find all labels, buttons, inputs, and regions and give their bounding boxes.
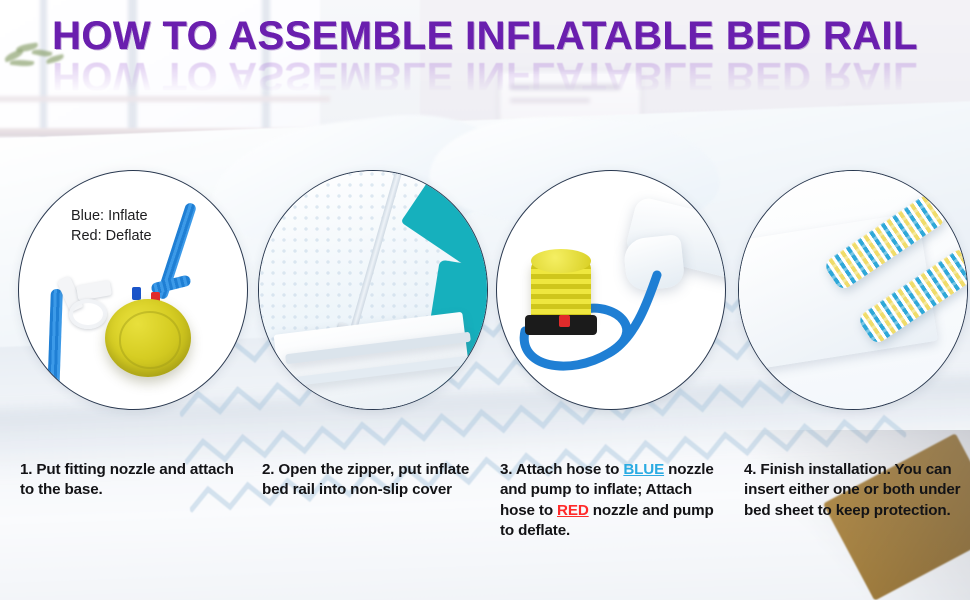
pump-base-disc — [105, 299, 191, 377]
step-3-illustration — [497, 171, 725, 409]
step-2-caption: 2. Open the zipper, put inflate bed rail… — [262, 460, 484, 501]
infographic-canvas: HOW TO ASSEMBLE INFLATABLE BED RAIL HOW … — [0, 0, 970, 600]
blue-hose-lower — [47, 289, 63, 397]
blue-keyword: BLUE — [623, 461, 664, 478]
fitting-nozzle — [76, 280, 112, 301]
step-3-circle — [496, 170, 726, 410]
step-3-caption-part: 3. Attach hose to — [500, 461, 623, 478]
window-mullion — [0, 96, 330, 102]
title-block: HOW TO ASSEMBLE INFLATABLE BED RAIL HOW … — [0, 16, 970, 96]
fitting-nozzle-ring — [69, 299, 107, 329]
blue-valve-marker — [132, 287, 141, 300]
red-nozzle-marker — [559, 315, 570, 327]
step-4-caption: 4. Finish installation. You can insert e… — [744, 460, 962, 521]
page-title: HOW TO ASSEMBLE INFLATABLE BED RAIL — [0, 16, 970, 57]
foot-pump-top — [531, 249, 591, 273]
legend-text: Blue: Inflate Red: Deflate — [71, 207, 152, 246]
step-1-illustration: Blue: Inflate Red: Deflate — [19, 171, 247, 409]
red-keyword: RED — [557, 502, 589, 519]
legend-line-red: Red: Deflate — [71, 227, 152, 247]
page-title-reflection: HOW TO ASSEMBLE INFLATABLE BED RAIL — [0, 55, 970, 96]
step-1-circle: Blue: Inflate Red: Deflate — [18, 170, 248, 410]
step-2-circle — [258, 170, 488, 410]
step-4-illustration — [739, 171, 967, 409]
legend-line-blue: Blue: Inflate — [71, 207, 152, 227]
step-3-caption: 3. Attach hose to BLUE nozzle and pump t… — [500, 460, 728, 541]
step-1-caption: 1. Put fitting nozzle and attach to the … — [20, 460, 238, 501]
step-2-illustration — [259, 171, 487, 409]
step-4-circle — [738, 170, 968, 410]
